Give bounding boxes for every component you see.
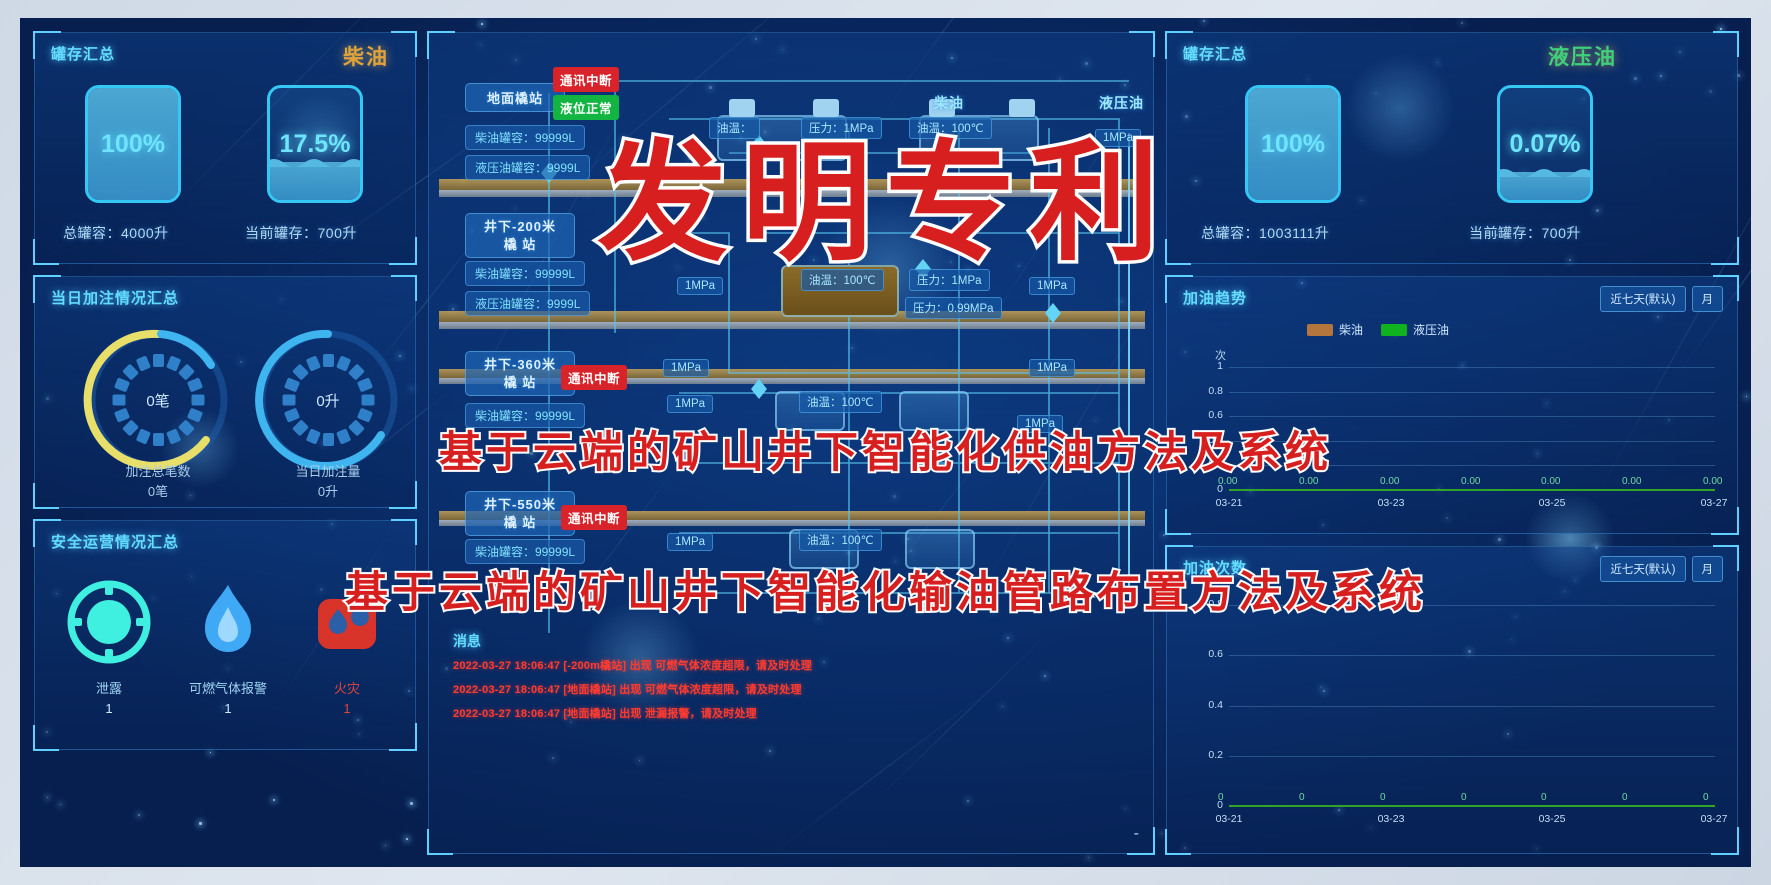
point-label: 0 xyxy=(1218,792,1224,803)
legend-swatch-diesel xyxy=(1307,324,1333,336)
point-label: 0 xyxy=(1703,792,1709,803)
y-tick-label: 0.8 xyxy=(1197,385,1223,397)
station-label-200[interactable]: 井下-200米 橇 站 xyxy=(465,213,575,258)
point-label: 0.00 xyxy=(1622,476,1641,487)
safety-value-gas-alarm: 1 xyxy=(168,701,288,716)
panel-title-safety: 安全运营情况汇总 xyxy=(51,531,179,552)
tank-pct-current-left: 17.5% xyxy=(270,130,360,159)
tank-caption-total-left: 总罐容：4000升 xyxy=(63,223,169,243)
legend-item-hydraulic[interactable]: 液压油 xyxy=(1381,321,1449,338)
trend-range-buttons: 近七天(默认) 月 xyxy=(1600,286,1723,312)
y-tick-label: 1 xyxy=(1197,360,1223,372)
tank-pct-current-right: 0.07% xyxy=(1500,130,1590,159)
legend-label-hydraulic: 液压油 xyxy=(1413,321,1449,338)
gauge-caption-volume-sub: 0升 xyxy=(248,482,408,502)
station-surface-hydraulic-capacity: 液压油罐容：9999L xyxy=(465,155,590,180)
panel-title-tank-summary-left: 罐存汇总 xyxy=(51,43,115,64)
tank-current-left: 17.5% xyxy=(267,85,363,203)
safety-item-gas-alarm[interactable]: 可燃气体报警 1 xyxy=(168,579,288,716)
trend-btn-week[interactable]: 近七天(默认) xyxy=(1600,286,1685,312)
screenshot-root: 罐存汇总 柴油 100% 总罐容：4000升 17.5% 当前罐存：700升 当… xyxy=(0,0,1771,885)
count-range-buttons: 近七天(默认) 月 xyxy=(1600,556,1723,582)
x-tick-label: 03-25 xyxy=(1529,497,1575,509)
panel-right-tank-summary: 罐存汇总 液压油 100% 总罐容：1003111升 0.07% 当前罐存：70… xyxy=(1166,32,1738,264)
tank-caption-current-right: 当前罐存：700升 xyxy=(1469,223,1581,243)
gauge-refuel-volume: 0升 xyxy=(253,325,403,475)
safety-label-gas-alarm: 可燃气体报警 xyxy=(168,678,288,697)
gauge-caption-volume: 当日加注量 0升 xyxy=(248,462,408,501)
point-label: 0 xyxy=(1541,792,1547,803)
tank-pct-total-left: 100% xyxy=(88,130,178,159)
pressure-tag-4: 1MPa xyxy=(663,359,709,377)
gridline xyxy=(1229,392,1715,393)
panel-title-refuel-trend: 加油趋势 xyxy=(1183,287,1247,308)
panel-safety-summary: 安全运营情况汇总 泄露 1 可燃气体报警 1 xyxy=(34,520,416,750)
x-tick-label: 03-23 xyxy=(1368,497,1414,509)
x-tick-label: 03-27 xyxy=(1691,497,1737,509)
safety-value-leak: 1 xyxy=(49,701,169,716)
station-label-surface[interactable]: 地面橇站 xyxy=(465,83,565,112)
station-200-diesel-capacity: 柴油罐容：99999L xyxy=(465,261,585,286)
oil-type-label-hydraulic: 液压油 xyxy=(1548,41,1617,71)
tank-current-right: 0.07% xyxy=(1497,85,1593,203)
minimize-button[interactable]: - xyxy=(1134,825,1139,843)
panel-refuel-trend: 加油趋势 近七天(默认) 月 柴油 液压油 次 10.80.60.40.200.… xyxy=(1166,276,1738,534)
tank-fill-current-left xyxy=(270,162,360,200)
point-label: 0 xyxy=(1380,792,1386,803)
panel-daily-refuel: 当日加注情况汇总 0笔 加注总笔数 0笔 0升 当日加注量 0升 xyxy=(34,276,416,508)
y-tick-label: 0.4 xyxy=(1197,699,1223,711)
gauge-value-volume: 0升 xyxy=(253,325,403,475)
gauge-value-count: 0笔 xyxy=(83,325,233,475)
tank-wave-icon-right xyxy=(1497,165,1593,177)
tank-fill-current-right xyxy=(1500,172,1590,200)
gridline xyxy=(1229,655,1715,656)
x-tick-label: 03-21 xyxy=(1206,497,1252,509)
x-tick-label: 03-21 xyxy=(1206,813,1252,825)
station-surface-diesel-capacity: 柴油罐容：99999L xyxy=(465,125,585,150)
point-label: 0.00 xyxy=(1703,476,1722,487)
count-btn-week[interactable]: 近七天(默认) xyxy=(1600,556,1685,582)
safety-value-fire: 1 xyxy=(287,701,407,716)
trend-btn-month[interactable]: 月 xyxy=(1692,286,1724,312)
pressure-tag-8: 1MPa xyxy=(667,533,713,551)
series-line-hydraulic xyxy=(1229,489,1715,491)
tank-caption-total-right: 总罐容：1003111升 xyxy=(1201,223,1329,243)
panel-left-tank-summary: 罐存汇总 柴油 100% 总罐容：4000升 17.5% 当前罐存：700升 xyxy=(34,32,416,264)
tank-pct-total-right: 100% xyxy=(1248,130,1338,159)
legend-item-diesel[interactable]: 柴油 xyxy=(1307,321,1363,338)
watermark-line-1: 基于云端的矿山井下智能化供油方法及系统 xyxy=(439,418,1332,480)
message-line-1: 2022-03-27 18:06:47 [-200m橇站] 出现 可燃气体浓度超… xyxy=(453,657,812,673)
station-label-550[interactable]: 井下-550米 橇 站 xyxy=(465,491,575,536)
point-label: 0.00 xyxy=(1461,476,1480,487)
station-200-hydraulic-capacity: 液压油罐容：9999L xyxy=(465,291,590,316)
pressure-tag-6: 1MPa xyxy=(667,395,713,413)
panel-title-daily-refuel: 当日加注情况汇总 xyxy=(51,287,179,308)
oil-type-label-diesel: 柴油 xyxy=(343,41,389,71)
x-tick-label: 03-27 xyxy=(1691,813,1737,825)
badge-surface-comm: 通讯中断 xyxy=(553,67,619,92)
gauge-caption-count: 加注总笔数 0笔 xyxy=(78,462,238,501)
badge-360-comm: 通讯中断 xyxy=(561,365,627,390)
message-line-2: 2022-03-27 18:06:47 [地面橇站] 出现 可燃气体浓度超限，请… xyxy=(453,681,802,697)
message-line-3: 2022-03-27 18:06:47 [地面橇站] 出现 泄漏报警，请及时处理 xyxy=(453,705,757,721)
legend-label-diesel: 柴油 xyxy=(1339,321,1363,338)
badge-550-comm: 通讯中断 xyxy=(561,505,627,530)
dashboard-stage: 罐存汇总 柴油 100% 总罐容：4000升 17.5% 当前罐存：700升 当… xyxy=(20,18,1751,867)
gauge-caption-count-text: 加注总笔数 xyxy=(78,462,238,482)
flame-icon xyxy=(185,579,271,665)
message-panel-title: 消息 xyxy=(453,631,481,651)
station-label-360[interactable]: 井下-360米 橇 站 xyxy=(465,351,575,396)
legend-swatch-hydraulic xyxy=(1381,324,1407,336)
trend-legend: 柴油 液压油 xyxy=(1307,321,1449,338)
point-label: 0.00 xyxy=(1541,476,1560,487)
x-tick-label: 03-23 xyxy=(1368,813,1414,825)
gear-leak-icon xyxy=(66,579,152,665)
x-tick-label: 03-25 xyxy=(1529,813,1575,825)
gauge-caption-volume-text: 当日加注量 xyxy=(248,462,408,482)
point-label: 0 xyxy=(1461,792,1467,803)
watermark-line-2: 基于云端的矿山井下智能化输油管路布置方法及系统 xyxy=(345,558,1426,620)
gridline xyxy=(1229,367,1715,368)
tank-caption-current-left: 当前罐存：700升 xyxy=(245,223,357,243)
watermark-headline: 发明专利 xyxy=(597,98,1173,286)
panel-title-tank-summary-right: 罐存汇总 xyxy=(1183,43,1247,64)
y-tick-label: 0.2 xyxy=(1197,749,1223,761)
gridline xyxy=(1229,706,1715,707)
gridline xyxy=(1229,756,1715,757)
sensor-oil-temp-5: 油温：100℃ xyxy=(799,529,882,551)
point-label: 0 xyxy=(1622,792,1628,803)
safety-label-fire: 火灾 xyxy=(287,678,407,697)
count-plot-area: 0.80.60.40.20000000003-2103-2303-2503-27 xyxy=(1229,605,1715,807)
sensor-pressure-3: 压力：0.99MPa xyxy=(905,297,1002,319)
y-tick-label: 0.6 xyxy=(1197,648,1223,660)
sensor-oil-temp-4: 油温：100℃ xyxy=(799,391,882,413)
pressure-tag-5: 1MPa xyxy=(1029,359,1075,377)
series-line-hydraulic xyxy=(1229,805,1715,807)
point-label: 0 xyxy=(1299,792,1305,803)
point-label: 0.00 xyxy=(1380,476,1399,487)
gauge-caption-count-sub: 0笔 xyxy=(78,482,238,502)
safety-label-leak: 泄露 xyxy=(49,678,169,697)
count-btn-month[interactable]: 月 xyxy=(1692,556,1724,582)
gauge-refuel-count: 0笔 xyxy=(83,325,233,475)
tank-total-left: 100% xyxy=(85,85,181,203)
tank-total-right: 100% xyxy=(1245,85,1341,203)
safety-item-leak[interactable]: 泄露 1 xyxy=(49,579,169,716)
gridline xyxy=(1229,416,1715,417)
